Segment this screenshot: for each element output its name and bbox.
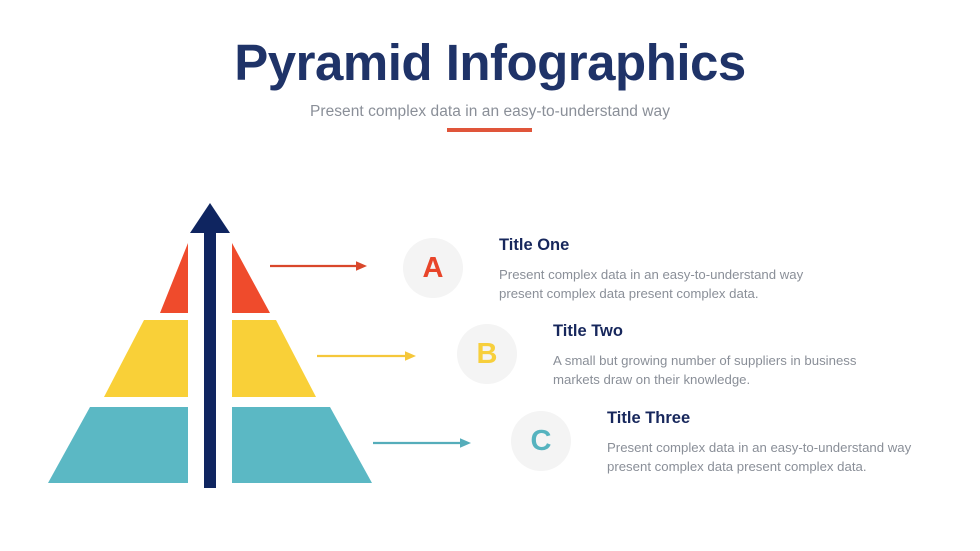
item-description-c: Present complex data in an easy-to-under… xyxy=(607,429,957,476)
connector-arrow-c-icon xyxy=(371,433,481,453)
upward-arrow-icon xyxy=(190,203,230,488)
item-title-b: Title Two xyxy=(553,322,903,342)
pyramid-tier-top-right xyxy=(232,243,270,313)
page-subtitle: Present complex data in an easy-to-under… xyxy=(0,90,980,121)
pyramid-tier-middle-right xyxy=(232,320,316,397)
content-item-b[interactable]: B Title Two A small but growing number o… xyxy=(457,322,903,389)
content-text-c: Title Three Present complex data in an e… xyxy=(571,409,957,476)
item-title-c: Title Three xyxy=(607,409,957,429)
infographic-slide: Pyramid Infographics Present complex dat… xyxy=(0,0,980,551)
content-text-b: Title Two A small but growing number of … xyxy=(517,322,903,389)
item-description-b: A small but growing number of suppliers … xyxy=(553,342,903,389)
badge-b: B xyxy=(457,324,517,384)
item-description-a: Present complex data in an easy-to-under… xyxy=(499,256,849,303)
content-text-a: Title One Present complex data in an eas… xyxy=(463,236,849,303)
badge-letter-b: B xyxy=(477,340,498,369)
pyramid-tier-bottom-left xyxy=(48,407,188,483)
badge-a: A xyxy=(403,238,463,298)
pyramid-tier-middle-left xyxy=(104,320,188,397)
item-title-a: Title One xyxy=(499,236,849,256)
content-item-a[interactable]: A Title One Present complex data in an e… xyxy=(403,236,849,303)
title-underline-accent xyxy=(447,128,532,132)
connector-arrow-b-icon xyxy=(315,346,425,366)
badge-letter-c: C xyxy=(531,427,552,456)
connector-arrow-a-icon xyxy=(268,256,378,276)
content-item-c[interactable]: C Title Three Present complex data in an… xyxy=(511,409,957,476)
badge-letter-a: A xyxy=(423,254,444,283)
slide-header: Pyramid Infographics Present complex dat… xyxy=(0,36,980,121)
pyramid-tier-top-left xyxy=(160,243,188,313)
pyramid-graphic xyxy=(40,195,400,495)
pyramid-tier-bottom-right xyxy=(232,407,372,483)
page-title: Pyramid Infographics xyxy=(0,36,980,90)
badge-c: C xyxy=(511,411,571,471)
